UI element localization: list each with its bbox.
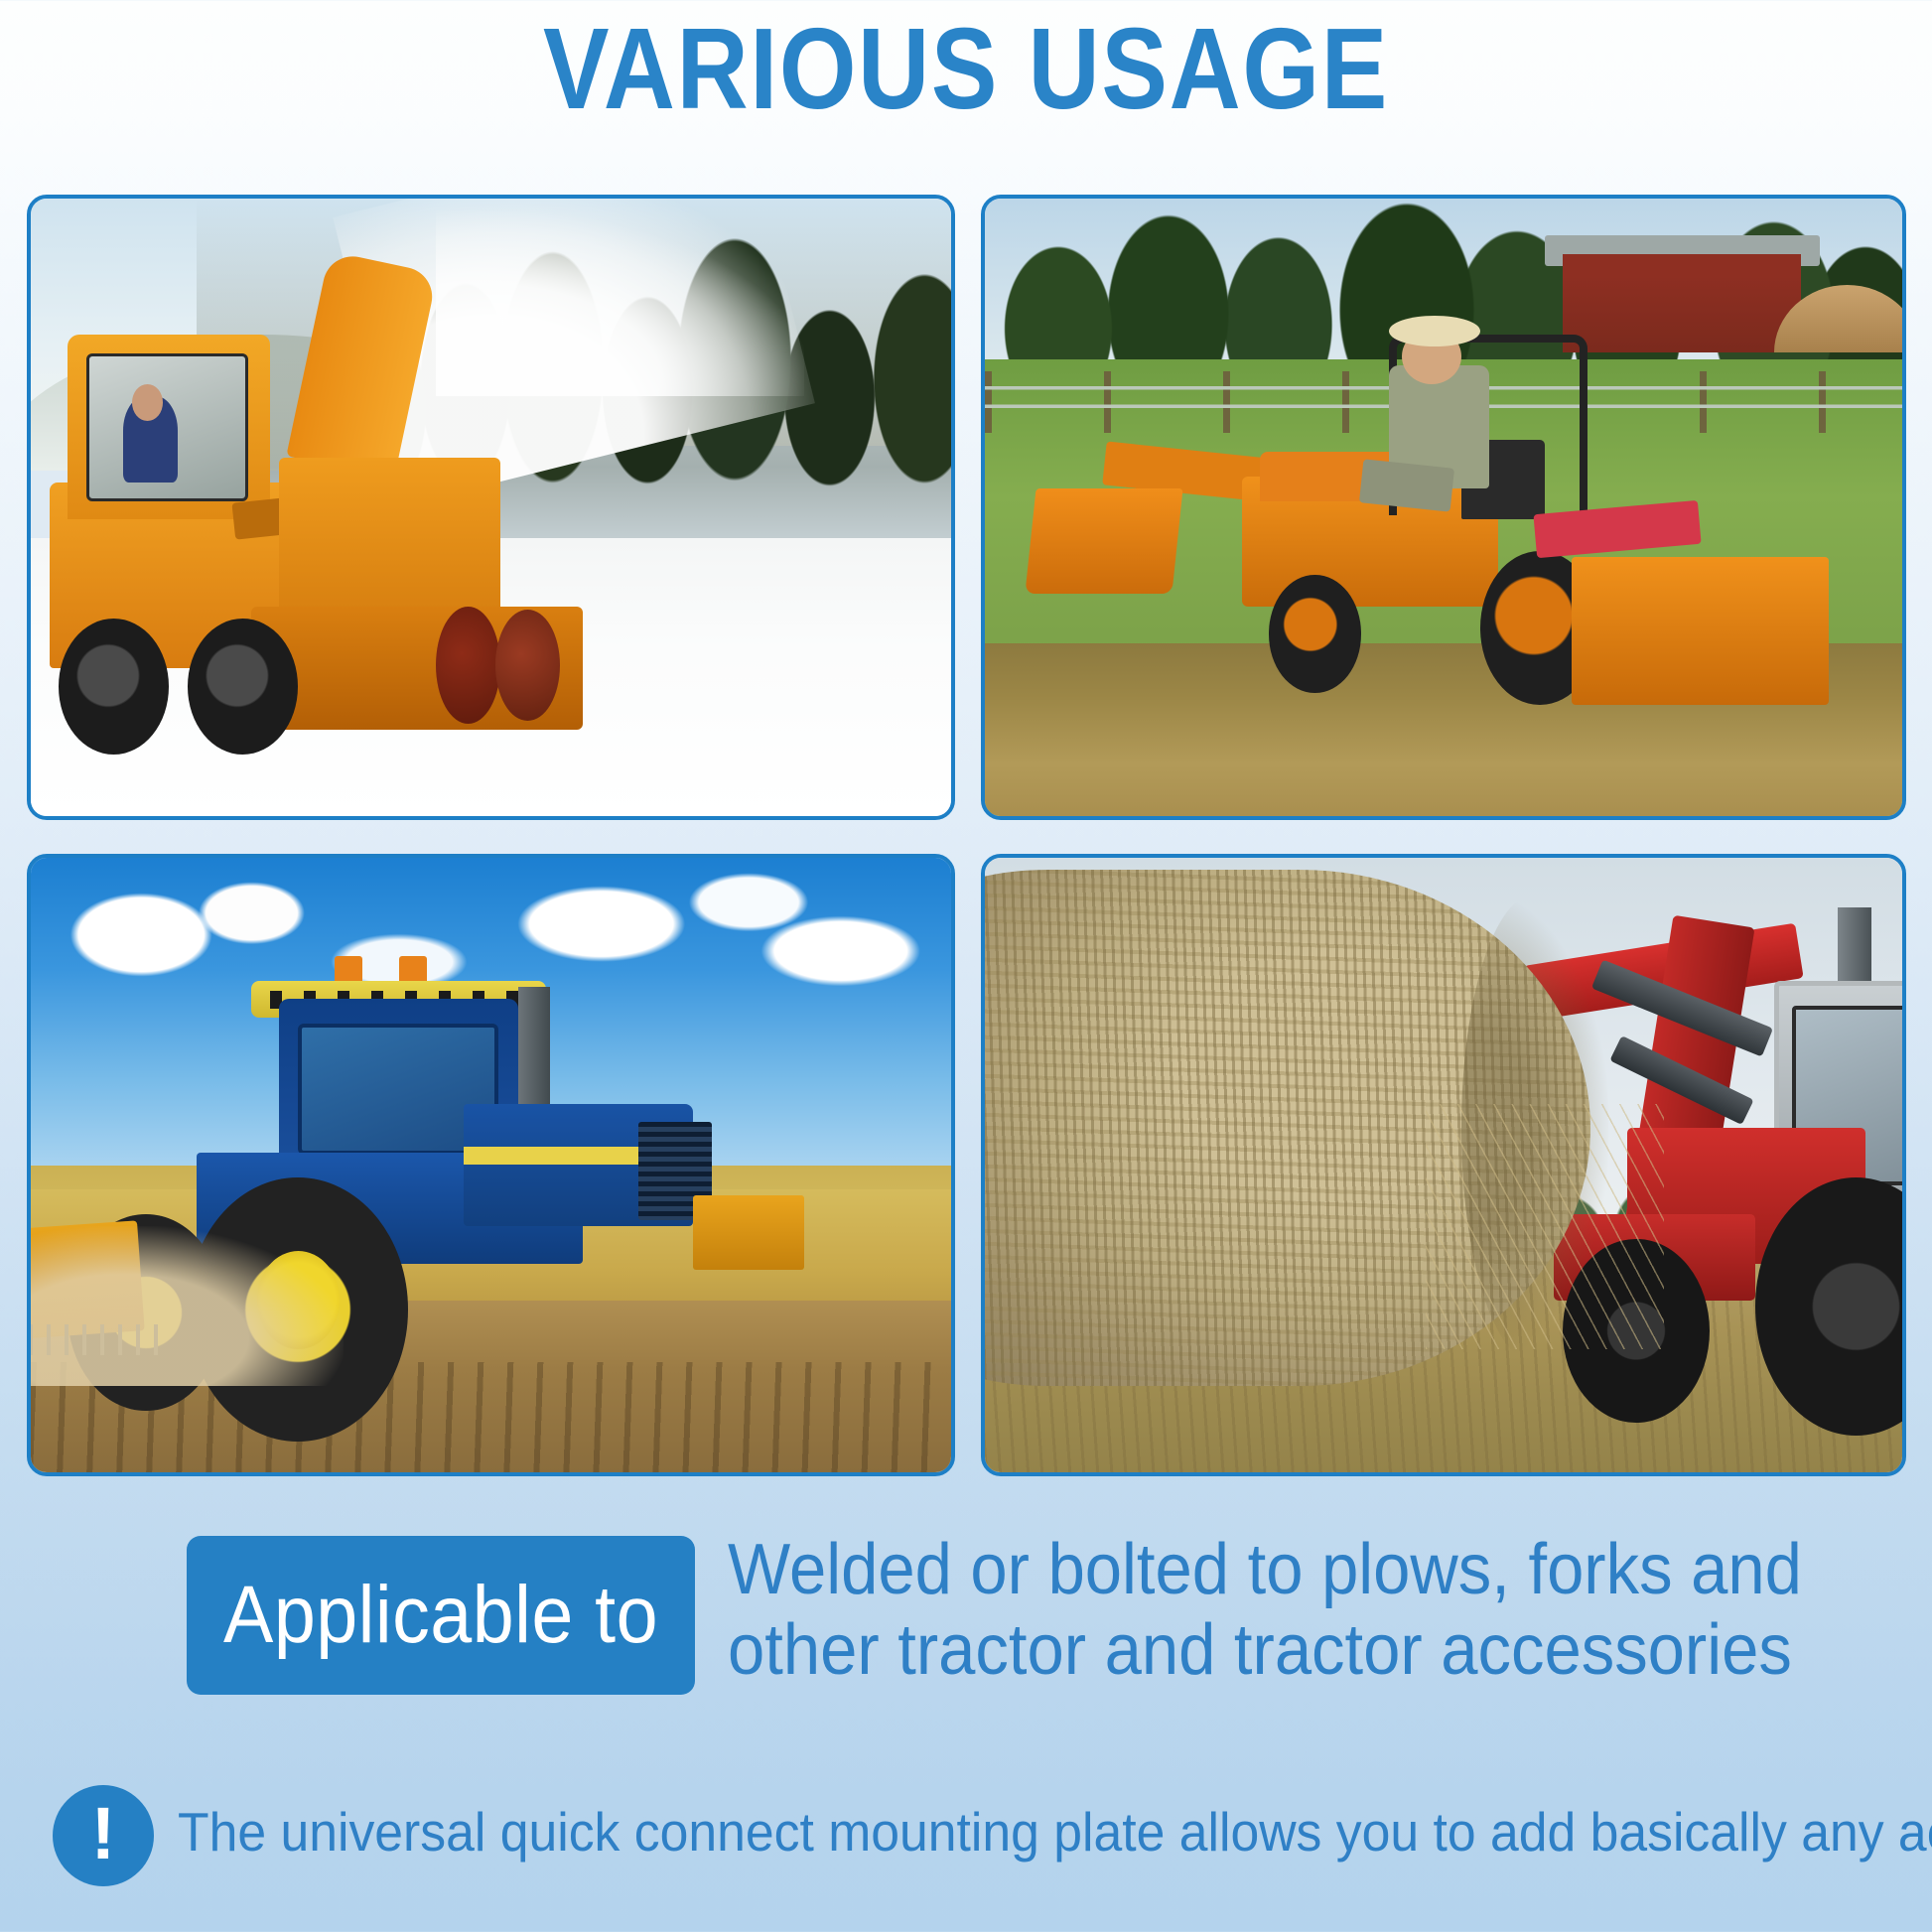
gallery-panel-compact-tractor[interactable]	[981, 195, 1906, 820]
auger-disc-right	[495, 610, 560, 721]
tractor-front-wheel	[1269, 575, 1360, 692]
loader-wheel-front	[59, 619, 169, 755]
applicable-to-section: Applicable to Welded or bolted to plows,…	[187, 1536, 1874, 1720]
loader-bucket	[1026, 488, 1183, 594]
applicable-to-badge: Applicable to	[187, 1536, 695, 1695]
front-weight-block	[693, 1195, 803, 1269]
straw-hat	[1389, 316, 1480, 346]
exclamation-glyph: !	[91, 1797, 116, 1870]
loose-hay-wisps	[1426, 1104, 1664, 1350]
red-barn	[1563, 254, 1801, 353]
applicable-to-description: Welded or bolted to plows, forks and oth…	[728, 1530, 1799, 1692]
field-tractor-scene	[31, 858, 951, 1472]
gallery-panel-snowblower[interactable]	[27, 195, 955, 820]
page-title: VARIOUS USAGE	[135, 6, 1797, 133]
usage-image-gallery	[27, 195, 1906, 1476]
applicable-to-line-1: Welded or bolted to plows, forks and	[728, 1530, 1799, 1610]
applicable-to-badge-label: Applicable to	[223, 1569, 658, 1662]
hay-bale-scene	[985, 858, 1902, 1472]
footer-note-text: The universal quick connect mounting pla…	[178, 1799, 1802, 1864]
exhaust-stack	[518, 987, 550, 1110]
loader-wheel-rear	[188, 619, 298, 755]
rear-tiller-attachment	[1572, 557, 1829, 705]
gallery-panel-field-tractor[interactable]	[27, 854, 955, 1476]
compact-tractor-scene	[985, 199, 1902, 816]
auger-disc-left	[436, 607, 500, 724]
snowblower-scene	[31, 199, 951, 816]
gallery-panel-hay-bale[interactable]	[981, 854, 1906, 1476]
applicable-to-line-2: other tractor and tractor accessories	[728, 1610, 1799, 1691]
footer-note: ! The universal quick connect mounting p…	[53, 1785, 1889, 1894]
dust-cloud	[31, 1226, 344, 1386]
exclamation-icon: !	[53, 1785, 154, 1886]
